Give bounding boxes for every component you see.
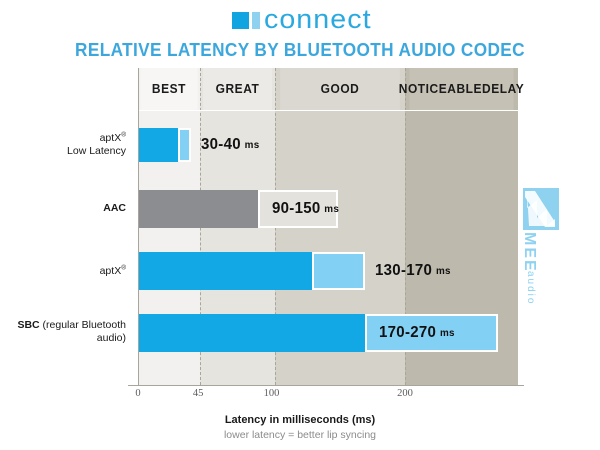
- bar-value-range: 30-40: [201, 136, 241, 154]
- bar-value-label: 90-150ms: [272, 190, 339, 228]
- category-name: aptX®: [100, 265, 126, 277]
- category-label-aac: AAC: [0, 202, 126, 215]
- x-tick-label: 0: [135, 388, 140, 399]
- band-label-great: GREAT: [203, 68, 272, 110]
- bar-value-range: 170-270: [379, 324, 436, 342]
- category-label-aptx: aptX®: [0, 264, 126, 278]
- bar-segment-high: [312, 252, 365, 290]
- chart-title: RELATIVE LATENCY BY BLUETOOTH AUDIO CODE…: [21, 39, 579, 61]
- bar-row: 130-170ms: [138, 252, 518, 290]
- bar-value-label: 170-270ms: [379, 314, 455, 352]
- band-label-best: BEST: [140, 68, 197, 110]
- bar-segment-low: [139, 128, 179, 162]
- plot-area: BEST GREAT GOOD NOTICEABLEDELAY 30-40ms9…: [138, 68, 518, 385]
- bar-value-label: 30-40ms: [201, 128, 259, 162]
- bar-segment-low: [139, 314, 366, 352]
- category-labels: aptX®Low Latency AAC aptX® SBC (regular …: [0, 68, 132, 385]
- x-axis-line: [128, 385, 524, 386]
- x-axis-ticks: 045100200: [0, 388, 600, 404]
- category-label-aptx-low-latency: aptX®Low Latency: [0, 131, 126, 158]
- logo-square-light-icon: [252, 12, 260, 29]
- logo-squares: [232, 12, 260, 29]
- band-head-divider: [405, 110, 518, 111]
- bar-segment-high: [178, 128, 191, 162]
- bar-value-unit: ms: [324, 203, 339, 215]
- bar-value-unit: ms: [436, 265, 451, 277]
- band-head-divider: [138, 110, 200, 111]
- band-head-divider: [200, 110, 275, 111]
- logo-square-dark-icon: [232, 12, 249, 29]
- category-name: SBC: [17, 319, 39, 331]
- x-tick-label: 45: [193, 388, 204, 399]
- band-label-noticeable-delay: NOTICEABLEDELAY: [410, 68, 514, 110]
- bar-segment-low: [139, 190, 259, 228]
- bar-segment-low: [139, 252, 313, 290]
- bar-row: 90-150ms: [138, 190, 518, 228]
- bar-row: 30-40ms: [138, 128, 518, 162]
- mee-audio-watermark: MEE audio: [519, 188, 563, 298]
- x-axis-note: lower latency = better lip syncing: [0, 429, 600, 441]
- category-sublabel: (regular Bluetooth audio): [43, 319, 126, 344]
- category-sublabel: Low Latency: [67, 145, 126, 157]
- connect-logo: connect: [0, 6, 600, 33]
- bar-value-range: 90-150: [272, 200, 321, 218]
- bar-value-label: 130-170ms: [375, 252, 451, 290]
- bar-row: 170-270ms: [138, 314, 518, 352]
- band-head-divider: [275, 110, 405, 111]
- bar-value-unit: ms: [440, 327, 455, 339]
- bar-value-range: 130-170: [375, 262, 432, 280]
- mee-logo-icon: [523, 188, 559, 230]
- logo-wordmark: connect: [264, 6, 372, 33]
- category-label-sbc: SBC (regular Bluetooth audio): [0, 319, 126, 345]
- band-label-good: GOOD: [280, 68, 400, 110]
- bar-value-unit: ms: [245, 139, 260, 151]
- x-axis-title: Latency in milliseconds (ms): [0, 414, 600, 426]
- x-tick-label: 200: [397, 388, 413, 399]
- category-name: aptX®: [100, 132, 126, 144]
- watermark-sub: audio: [525, 271, 536, 305]
- category-name: AAC: [103, 202, 126, 214]
- infographic-root: connect RELATIVE LATENCY BY BLUETOOTH AU…: [0, 0, 600, 450]
- x-tick-label: 100: [264, 388, 280, 399]
- watermark-brand: MEE: [521, 232, 537, 273]
